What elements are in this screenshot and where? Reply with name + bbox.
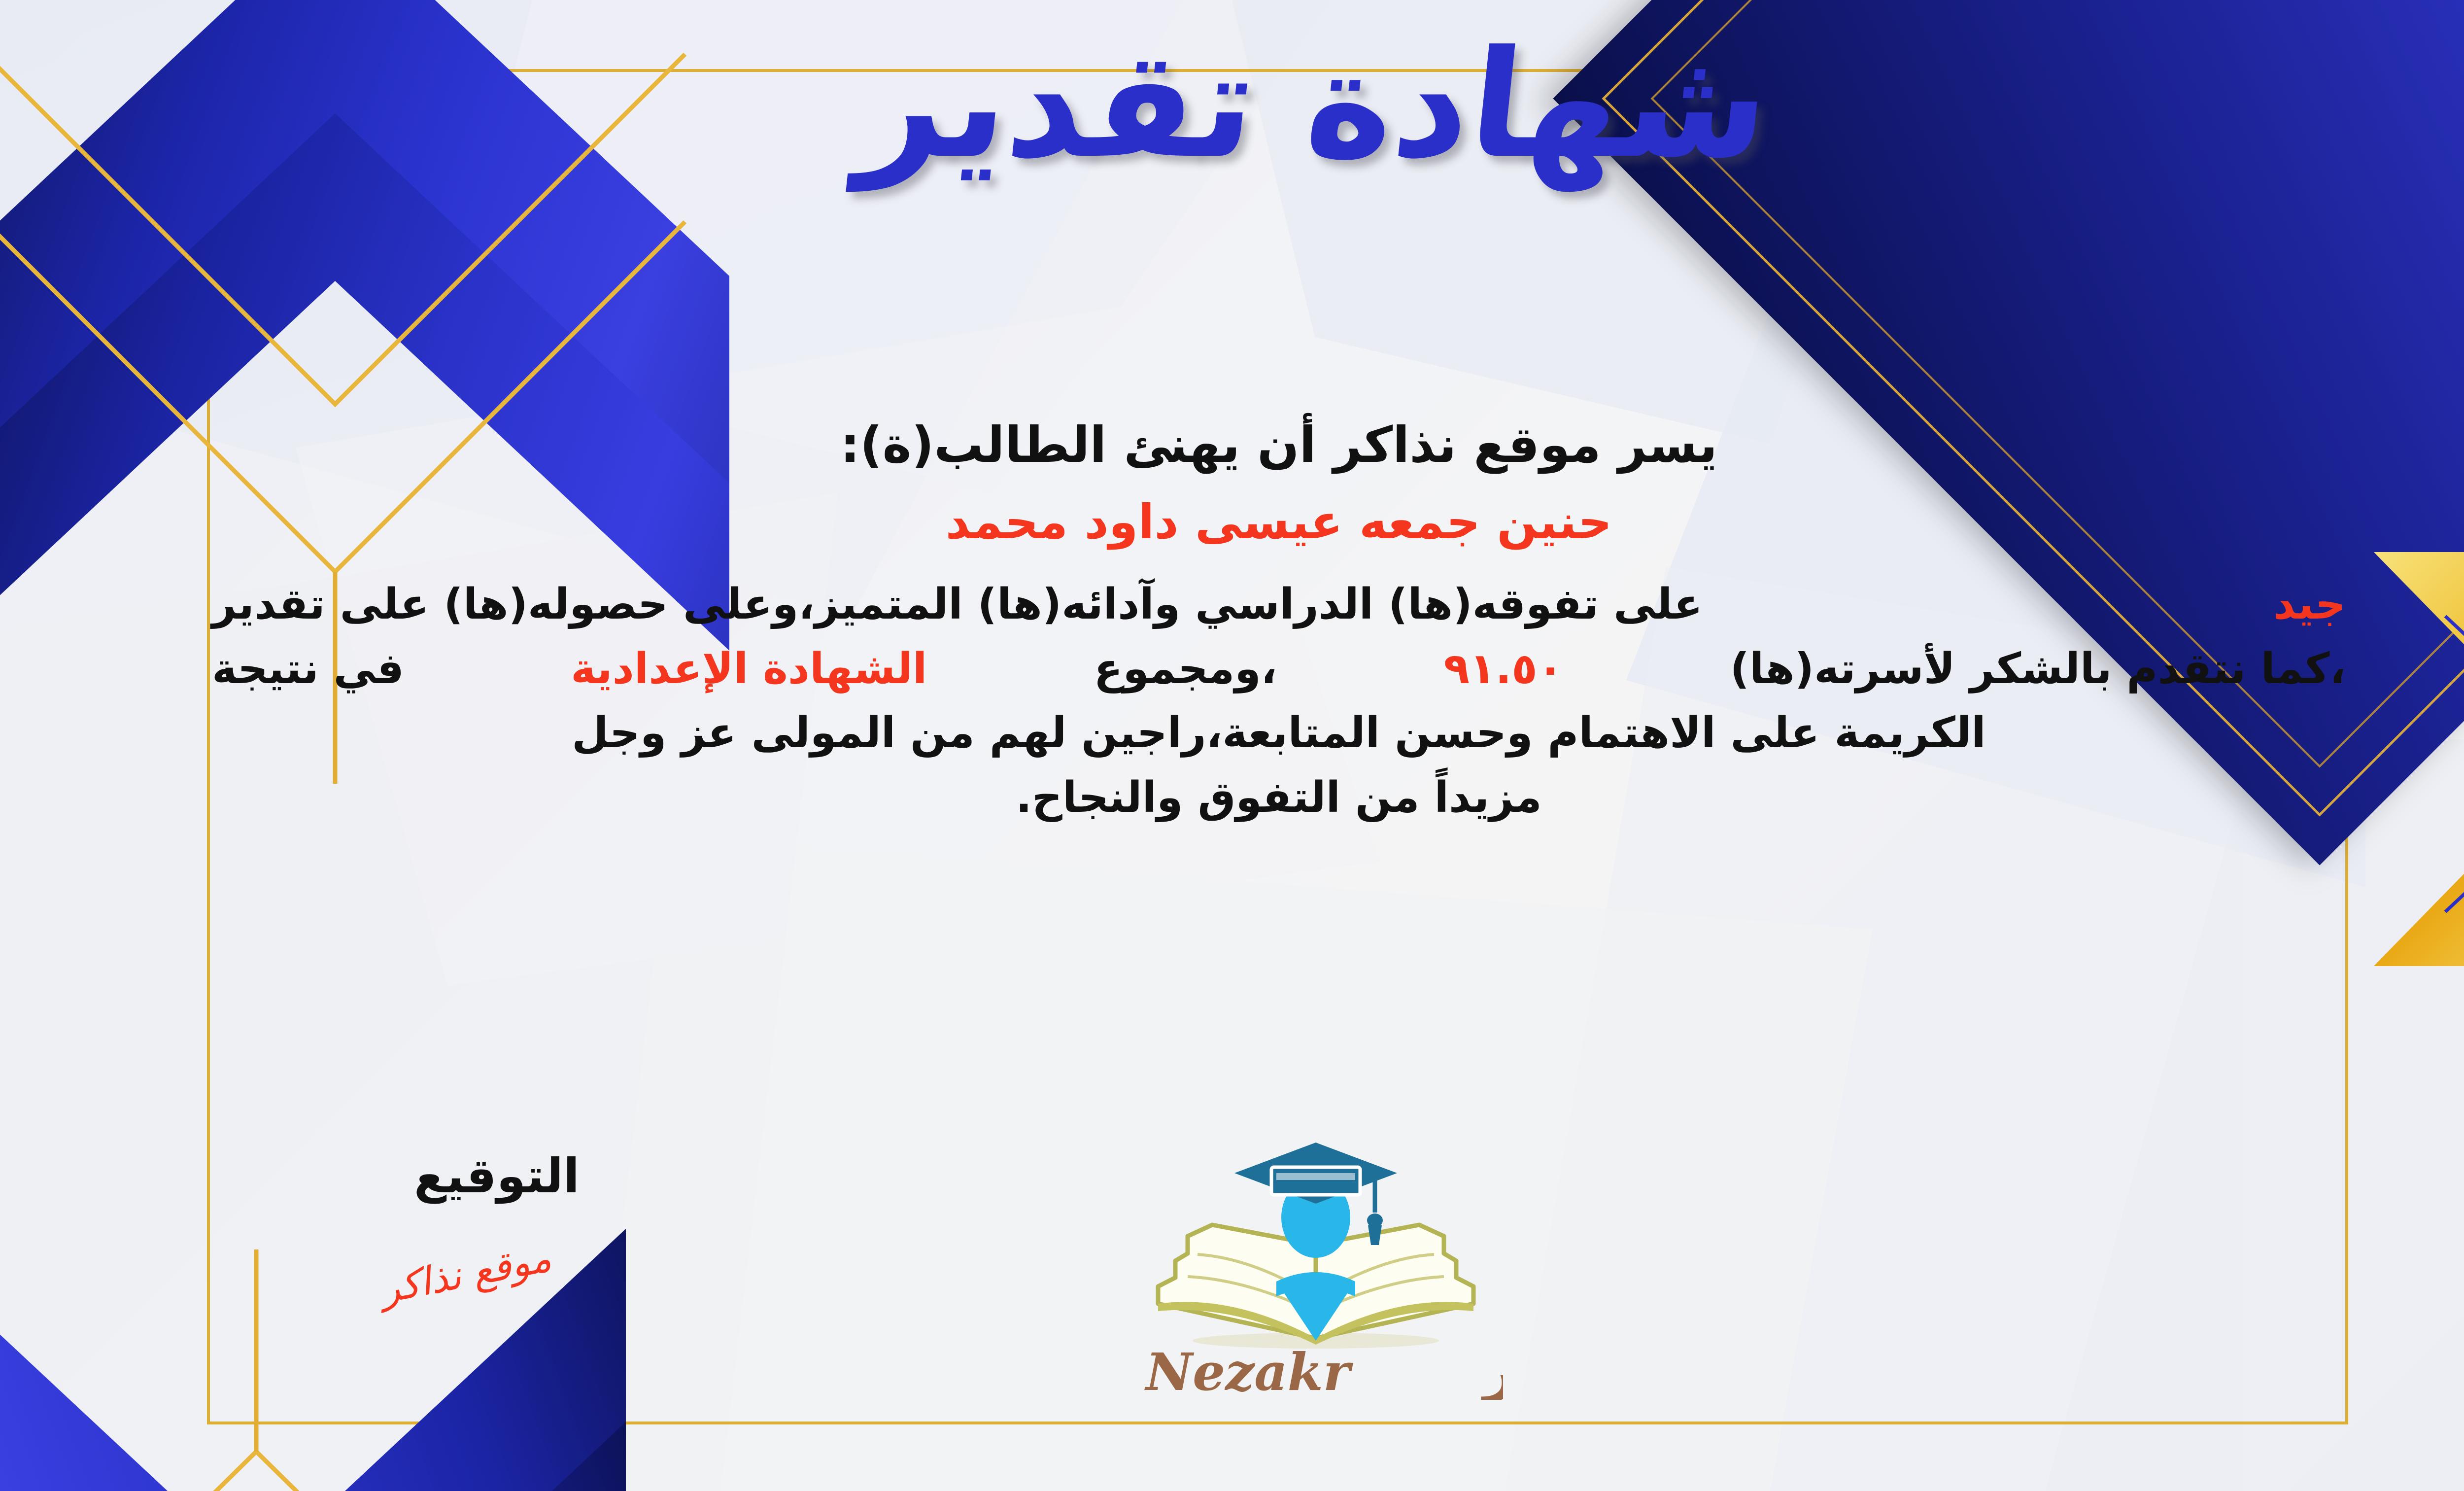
exam-name: الشهادة الإعدادية: [571, 637, 927, 701]
signature-label: التوقيع: [414, 1148, 580, 1204]
body-line-2: ،كما نتقدم بالشكر لأسرته(ها) ٩١.٥٠ ،ومجم…: [212, 637, 2346, 701]
body-line-3: الكريمة على الاهتمام وحسن المتابعة،راجين…: [212, 701, 2346, 765]
total-label: ،ومجموع: [1094, 637, 1277, 701]
logo-wordmark: Nezakr نذاكر: [1144, 1339, 1503, 1400]
logo-wordmark-latin: Nezakr: [1144, 1342, 1354, 1400]
grade-value: جيد: [2273, 572, 2346, 637]
logo-wordmark-arabic: نذاكر: [1481, 1339, 1503, 1400]
body-line-4: مزيداً من التفوق والنجاح.: [212, 765, 2346, 830]
score-value: ٩١.٥٠: [1444, 637, 1564, 701]
body-line-1-text: على تفوقه(ها) الدراسي وآدائه(ها) المتميز…: [212, 572, 1703, 637]
certificate-canvas: شهادة تقدير يسر موقع نذاكر أن يهنئ الطال…: [0, 0, 2464, 1491]
nezakr-logo: Nezakr نذاكر: [1129, 1134, 1503, 1400]
student-name: حنين جمعه عيسى داود محمد: [212, 492, 2346, 552]
certificate-title: شهادة تقدير: [0, 20, 2464, 190]
result-of-label: في نتيجة: [212, 637, 404, 701]
certificate-body: يسر موقع نذاكر أن يهنئ الطالب(ة): حنين ج…: [212, 414, 2346, 830]
greeting-line: يسر موقع نذاكر أن يهنئ الطالب(ة):: [212, 414, 2346, 476]
body-line-1: جيد على تفوقه(ها) الدراسي وآدائه(ها) الم…: [212, 572, 2346, 637]
thanks-clause: ،كما نتقدم بالشكر لأسرته(ها): [1730, 637, 2346, 701]
